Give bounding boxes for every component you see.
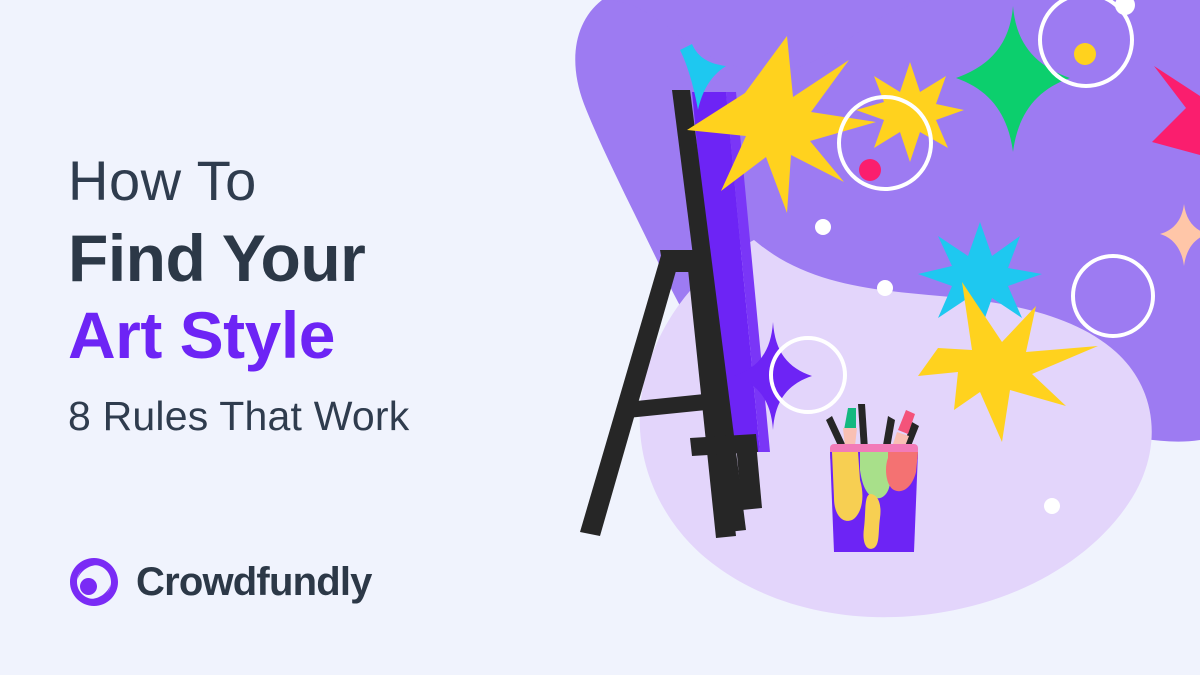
headline-block: How To Find Your Art Style 8 Rules That … (68, 152, 538, 439)
dot-yellow-1 (1074, 43, 1096, 65)
brand-logo-lockup[interactable]: Crowdfundly (68, 556, 372, 608)
dot-pink-1 (859, 159, 881, 181)
promo-banner: How To Find Your Art Style 8 Rules That … (0, 0, 1200, 675)
crowdfundly-wordmark: Crowdfundly (136, 562, 372, 602)
easel-apex-block (660, 250, 712, 272)
dot-white-5 (815, 219, 831, 235)
crowdfundly-swirl-icon (68, 556, 120, 608)
headline-subhead: 8 Rules That Work (68, 394, 538, 439)
art-easel-illustration (540, 0, 1200, 675)
paint-drip-yellow-2 (863, 494, 880, 549)
dot-white-2 (877, 280, 893, 296)
brush-ferrule-peach-1 (843, 428, 857, 446)
dot-white-3 (1044, 498, 1060, 514)
headline-kicker: How To (68, 152, 538, 209)
paint-drip-yellow (832, 452, 862, 521)
headline-accent: Art Style (68, 300, 538, 371)
headline-main: Find Your (68, 223, 538, 294)
